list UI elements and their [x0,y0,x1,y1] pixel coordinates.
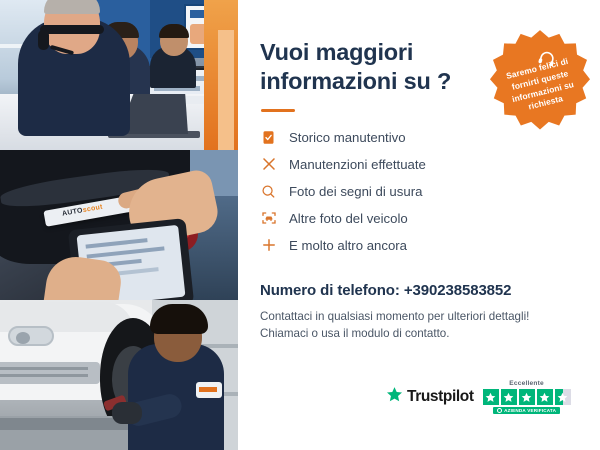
wrench-tools-icon [260,156,277,173]
plus-icon [260,237,277,254]
list-item-label: Storico manutentivo [289,131,406,144]
mechanic-wheel-photo [0,300,238,450]
list-item: Altre foto del veicolo [260,205,578,232]
call-center-agents-photo [0,0,238,150]
star-filled-3 [519,389,535,405]
star-half-5 [555,389,571,405]
info-request-banner: AUTOscout Vuoi maggiori informazioni su … [0,0,600,450]
list-item: Manutenzioni effettuate [260,151,578,178]
list-item: Foto dei segni di usura [260,178,578,205]
contact-description-line-2: Chiamaci o usa il modulo di contatto. [260,325,578,342]
list-item-label: E molto altro ancora [289,239,407,252]
trustpilot-stars [483,389,571,405]
callout-badge: Saremo felici di fornirti queste informa… [488,28,592,132]
trustpilot-rating-label: Eccellente [509,380,544,387]
trustpilot-star-icon [386,386,403,408]
verified-company-badge: AZIENDA VERIFICATA [493,407,560,414]
vehicle-inspection-photo: AUTOscout [0,150,238,300]
title-divider [261,109,295,112]
phone-number[interactable]: +390238583852 [404,282,512,299]
feature-list: Storico manutentivo Manutenzioni effettu… [260,124,578,259]
page-title: Vuoi maggiori informazioni su ? [260,38,475,96]
trustpilot-widget[interactable]: Trustpilot Eccellente [386,380,571,414]
content-panel: Vuoi maggiori informazioni su ? Storico … [238,0,600,450]
headline-line-2: informazioni su ? [260,68,451,94]
star-filled-4 [537,389,553,405]
trustpilot-rating: Eccellente [483,380,571,414]
star-filled-2 [501,389,517,405]
headline-line-1: Vuoi maggiori [260,39,413,65]
list-item-label: Altre foto del veicolo [289,212,408,225]
photo-column: AUTOscout [0,0,238,450]
verified-check-icon [497,408,502,413]
magnifier-icon [260,183,277,200]
vehicle-scan-icon [260,210,277,227]
list-item-label: Foto dei segni di usura [289,185,422,198]
contact-description-line-1: Contattaci in qualsiasi momento per ulte… [260,308,578,325]
list-item-label: Manutenzioni effettuate [289,158,426,171]
trustpilot-logo: Trustpilot [386,386,474,408]
contact-description: Contattaci in qualsiasi momento per ulte… [260,308,578,343]
phone-label: Numero di telefono: [260,282,404,299]
checklist-icon [260,129,277,146]
star-filled-1 [483,389,499,405]
phone-number-row: Numero di telefono: +390238583852 [260,282,578,299]
verified-company-label: AZIENDA VERIFICATA [504,408,556,413]
callout-badge-text: Saremo felici di fornirti queste informa… [495,53,588,120]
list-item: E molto altro ancora [260,232,578,259]
trustpilot-brand-name: Trustpilot [407,388,474,406]
